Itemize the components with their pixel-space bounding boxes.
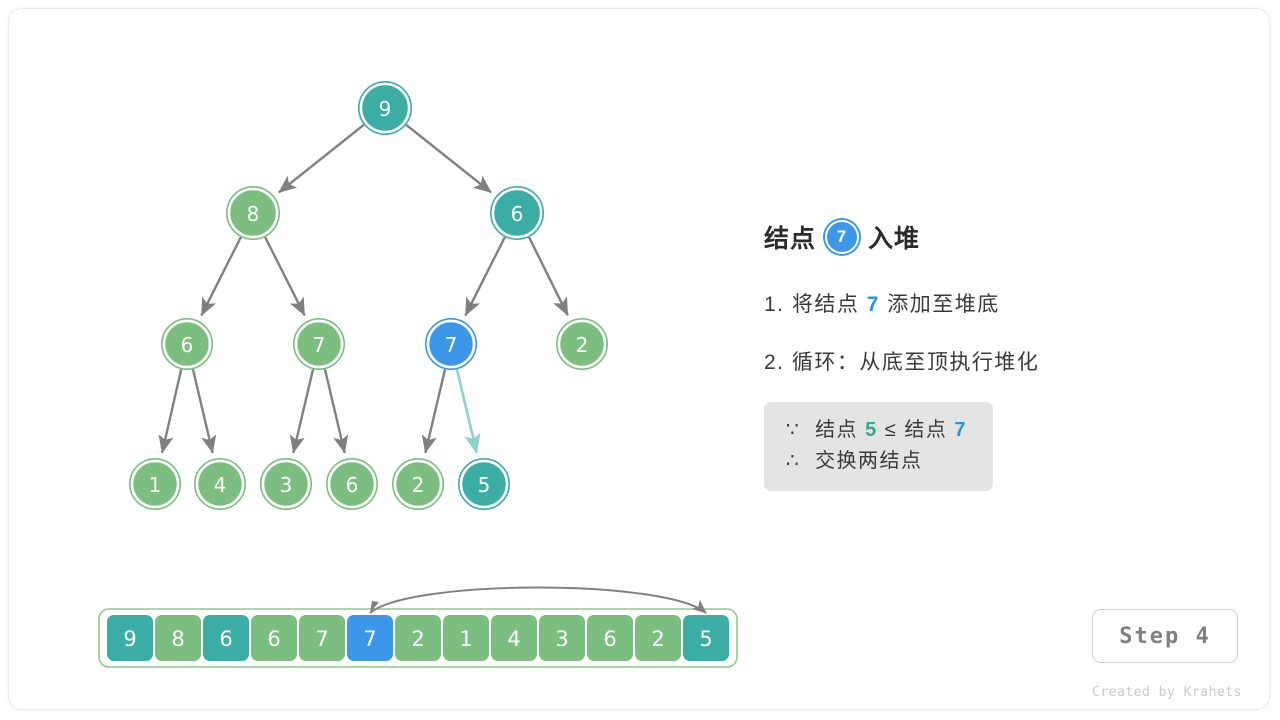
array-cell: 5 bbox=[683, 615, 729, 661]
tree-edge bbox=[293, 369, 313, 453]
slide-stage: 9866772143625 9866772143625 结点 7 入堆 1. 将… bbox=[9, 9, 1270, 710]
reason-2-text: 交换两结点 bbox=[815, 450, 923, 472]
tree-node-label: 4 bbox=[214, 473, 227, 497]
array-cell: 6 bbox=[587, 615, 633, 661]
step-badge: Step 4 bbox=[1092, 609, 1238, 663]
tree-node: 4 bbox=[195, 459, 245, 509]
tree-node: 2 bbox=[393, 459, 443, 509]
tree-edge bbox=[162, 369, 181, 452]
tree-edge bbox=[279, 125, 364, 193]
array-cell: 4 bbox=[491, 615, 537, 661]
tree-node: 7 bbox=[294, 319, 344, 369]
tree-node-label: 8 bbox=[247, 202, 260, 226]
tree-node: 6 bbox=[162, 319, 212, 369]
tree-nodes: 9866772143625 bbox=[130, 82, 607, 509]
tree-node-label: 3 bbox=[280, 473, 293, 497]
array-cell: 7 bbox=[299, 615, 345, 661]
reason-box: ∵ 结点 5 ≤ 结点 7 ∴ 交换两结点 bbox=[764, 402, 993, 491]
array-cell-value: 1 bbox=[459, 627, 472, 651]
array-cell-value: 7 bbox=[363, 627, 376, 651]
step-2-index: 2. bbox=[764, 351, 785, 374]
tree-edges bbox=[162, 125, 568, 453]
panel-title-suffix: 入堆 bbox=[868, 219, 920, 255]
tree-edge bbox=[465, 237, 504, 315]
reason-line-2: ∴ 交换两结点 bbox=[786, 446, 967, 477]
array-cell-value: 6 bbox=[603, 627, 616, 651]
step-1-before: 将结点 bbox=[792, 293, 860, 316]
array-cell: 1 bbox=[443, 615, 489, 661]
tree-node: 8 bbox=[227, 187, 279, 239]
tree-edge bbox=[457, 369, 477, 453]
step-item-1: 1. 将结点 7 添加至堆底 bbox=[764, 288, 1234, 318]
array-cell: 3 bbox=[539, 615, 585, 661]
reason-line-1: ∵ 结点 5 ≤ 结点 7 bbox=[786, 415, 967, 446]
tree-node: 5 bbox=[459, 459, 509, 509]
because-symbol: ∵ bbox=[786, 415, 808, 446]
array-cell: 6 bbox=[251, 615, 297, 661]
array-cell-value: 6 bbox=[267, 627, 280, 651]
tree-node: 2 bbox=[557, 319, 607, 369]
tree-node: 1 bbox=[130, 459, 180, 509]
reason-1-value-right: 7 bbox=[954, 419, 967, 441]
tree-node-label: 2 bbox=[412, 473, 425, 497]
panel-title-prefix: 结点 bbox=[764, 219, 816, 255]
tree-edge bbox=[425, 369, 445, 453]
panel-title-node-chip: 7 bbox=[825, 220, 859, 254]
reason-1-value-left: 5 bbox=[865, 419, 878, 441]
array-cell: 2 bbox=[395, 615, 441, 661]
tree-node: 6 bbox=[491, 187, 543, 239]
tree-node-label: 7 bbox=[313, 333, 326, 357]
panel-title: 结点 7 入堆 bbox=[764, 214, 1234, 260]
step-2-before: 循环：从底至顶执行堆化 bbox=[792, 351, 1040, 374]
tree-node-label: 5 bbox=[478, 473, 491, 497]
tree-edge bbox=[265, 237, 304, 315]
tree-node: 7 bbox=[426, 319, 476, 369]
step-1-after: 添加至堆底 bbox=[887, 293, 1000, 316]
array-cell-value: 4 bbox=[507, 627, 520, 651]
slide-frame: 9866772143625 9866772143625 结点 7 入堆 1. 将… bbox=[8, 8, 1270, 710]
therefore-symbol: ∴ bbox=[786, 446, 808, 477]
step-item-2: 2. 循环：从底至顶执行堆化 bbox=[764, 346, 1234, 376]
array-cell-value: 2 bbox=[651, 627, 664, 651]
array-cell-value: 7 bbox=[315, 627, 328, 651]
reason-1-a: 结点 bbox=[815, 419, 858, 441]
tree-edge bbox=[193, 369, 213, 453]
tree-node-label: 6 bbox=[346, 473, 359, 497]
tree-node: 3 bbox=[261, 459, 311, 509]
array-cell-value: 3 bbox=[555, 627, 568, 651]
tree-node-label: 9 bbox=[379, 97, 392, 121]
array-cell: 6 bbox=[203, 615, 249, 661]
credit-text: Created by Krahets bbox=[1087, 685, 1247, 700]
tree-edge bbox=[201, 237, 240, 315]
tree-node-label: 6 bbox=[511, 202, 524, 226]
array-cell: 9 bbox=[107, 615, 153, 661]
array-cell-value: 8 bbox=[171, 627, 184, 651]
tree-edge bbox=[529, 237, 568, 315]
reason-1-operator: ≤ bbox=[885, 419, 897, 441]
tree-edge bbox=[406, 125, 491, 193]
array-cell: 7 bbox=[347, 615, 393, 661]
array-cell-value: 6 bbox=[219, 627, 232, 651]
reason-1-b: 结点 bbox=[904, 419, 947, 441]
step-1-index: 1. bbox=[764, 293, 785, 316]
tree-edge bbox=[325, 369, 345, 453]
tree-node-label: 7 bbox=[445, 333, 458, 357]
array-cell: 2 bbox=[635, 615, 681, 661]
tree-node: 9 bbox=[359, 82, 411, 134]
step-1-value: 7 bbox=[867, 293, 880, 316]
array-cell-value: 9 bbox=[123, 627, 136, 651]
tree-node-label: 1 bbox=[149, 473, 162, 497]
array-cell: 8 bbox=[155, 615, 201, 661]
array-cell-value: 5 bbox=[699, 627, 712, 651]
array-visual: 9866772143625 bbox=[99, 588, 737, 668]
explanation-panel: 结点 7 入堆 1. 将结点 7 添加至堆底 2. 循环：从底至顶执行堆化 ∵ … bbox=[764, 214, 1234, 491]
tree-node: 6 bbox=[327, 459, 377, 509]
array-cell-value: 2 bbox=[411, 627, 424, 651]
tree-node-label: 2 bbox=[576, 333, 589, 357]
tree-node-label: 6 bbox=[181, 333, 194, 357]
